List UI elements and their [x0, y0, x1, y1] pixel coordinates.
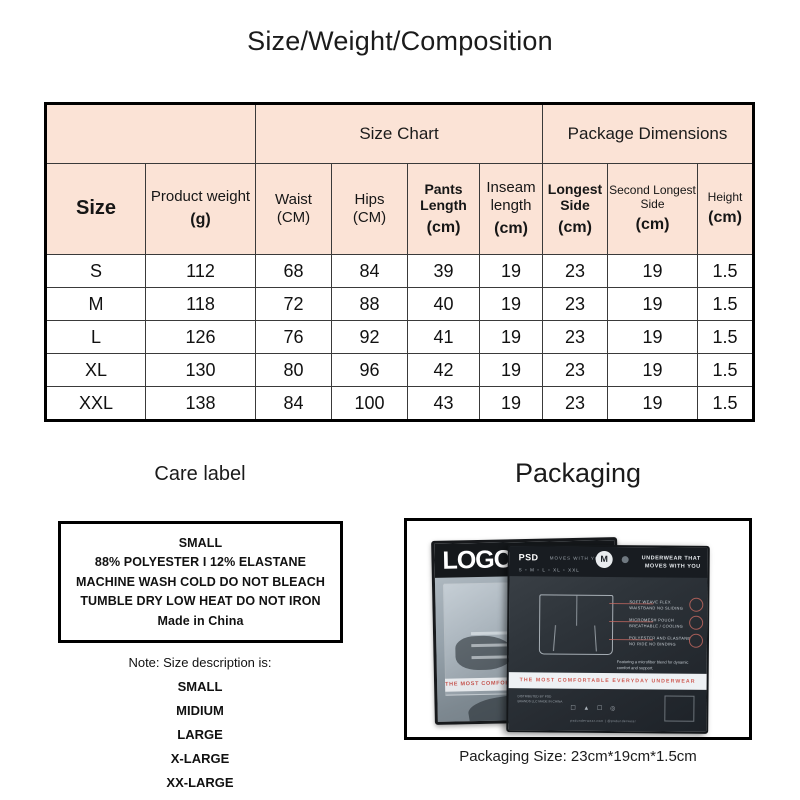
cell-second-longest-side: 19	[608, 255, 698, 288]
cell-pants-length: 40	[408, 288, 480, 321]
page-title: Size/Weight/Composition	[0, 26, 800, 57]
column-header-longest-side: Longest Side (cm)	[543, 164, 608, 255]
care-label-line: TUMBLE DRY LOW HEAT DO NOT IRON	[80, 595, 320, 608]
feature-badge-icon	[689, 634, 703, 648]
cell-longest-side: 23	[543, 354, 608, 387]
table-column-header-row: Size Product weight (g) Waist (CM) Hips …	[46, 164, 754, 255]
cell-hips: 88	[332, 288, 408, 321]
microfiber-note: Featuring a microfiber blend for dynamic…	[617, 659, 697, 672]
cell-waist: 72	[256, 288, 332, 321]
psd-brand-logo: PSD	[519, 552, 539, 562]
cell-pants-length: 39	[408, 255, 480, 288]
front-bag-url: psdunderwear.com | @psdunderwear	[570, 719, 636, 724]
cell-second-longest-side: 19	[608, 354, 698, 387]
cell-hips: 92	[332, 321, 408, 354]
cell-pants-length: 43	[408, 387, 480, 421]
size-description-note: Note: Size description is: SMALL MIDIUM …	[45, 655, 355, 799]
care-label-heading: Care label	[45, 463, 355, 486]
cell-waist: 84	[256, 387, 332, 421]
cell-height: 1.5	[698, 255, 754, 288]
table-row: XXL 138 84 100 43 19 23 19 1.5	[46, 387, 754, 421]
cell-longest-side: 23	[543, 321, 608, 354]
cell-inseam: 19	[480, 387, 543, 421]
feature-badge-icon	[689, 598, 703, 612]
front-bag-square-window	[664, 695, 694, 721]
size-badge: M	[596, 551, 613, 568]
cell-longest-side: 23	[543, 288, 608, 321]
table-row: L 126 76 92 41 19 23 19 1.5	[46, 321, 754, 354]
care-label-box: SMALL 88% POLYESTER I 12% ELASTANE MACHI…	[58, 521, 343, 643]
group-header-package-dimensions: Package Dimensions	[543, 104, 754, 164]
size-range-row: S ▫ M ▫ L ▫ XL ▫ XXL	[519, 567, 580, 573]
note-item: XX-LARGE	[45, 775, 355, 790]
cell-weight: 112	[146, 255, 256, 288]
column-header-product-weight: Product weight (g)	[146, 164, 256, 255]
feature-callout: SOFT WEAVE FLEX WAISTBAND NO SLIDING	[629, 599, 693, 612]
care-symbol-icons: ☐ ▲ ☐ ◎	[570, 705, 618, 712]
note-item: X-LARGE	[45, 751, 355, 766]
cell-weight: 130	[146, 354, 256, 387]
packaging-photo: LOGO WEAR THE MOST COMFORTABLE EVERYDAY …	[407, 521, 749, 737]
cell-hips: 84	[332, 255, 408, 288]
table-row: XL 130 80 96 42 19 23 19 1.5	[46, 354, 754, 387]
cell-height: 1.5	[698, 321, 754, 354]
column-header-hips: Hips (CM)	[332, 164, 408, 255]
cell-inseam: 19	[480, 255, 543, 288]
packaging-size-caption: Packaging Size: 23cm*19cm*1.5cm	[404, 748, 752, 765]
column-header-pants-length: Pants Length (cm)	[408, 164, 480, 255]
packaging-heading: Packaging	[404, 458, 752, 489]
group-header-size-chart: Size Chart	[256, 104, 543, 164]
feature-badge-icon	[689, 616, 703, 630]
back-bag-logo: LOGO	[442, 545, 512, 574]
front-bag-footer-text: DISTRIBUTED BY PSD BRANDS LLC MADE IN CH…	[517, 694, 563, 705]
cell-second-longest-side: 19	[608, 288, 698, 321]
cell-height: 1.5	[698, 387, 754, 421]
cell-height: 1.5	[698, 288, 754, 321]
boxer-brief-detail	[553, 625, 597, 651]
care-label-line: MACHINE WASH COLD DO NOT BLEACH	[76, 576, 325, 589]
front-bag-tagline: UNDERWEAR THAT MOVES WITH YOU	[627, 554, 701, 571]
column-header-waist: Waist (CM)	[256, 164, 332, 255]
cell-size: L	[46, 321, 146, 354]
note-item: LARGE	[45, 727, 355, 742]
cell-size: S	[46, 255, 146, 288]
cell-inseam: 19	[480, 354, 543, 387]
cell-waist: 76	[256, 321, 332, 354]
note-item: MIDIUM	[45, 703, 355, 718]
cell-inseam: 19	[480, 288, 543, 321]
cell-hips: 100	[332, 387, 408, 421]
packaging-bag-front: PSD MOVES WITH YOU M S ▫ M ▫ L ▫ XL ▫ XX…	[506, 544, 710, 734]
cell-hips: 96	[332, 354, 408, 387]
front-bag-band-text: THE MOST COMFORTABLE EVERYDAY UNDERWEAR	[509, 672, 707, 690]
care-label-line: Made in China	[157, 615, 243, 628]
size-spec-table-container: Size Chart Package Dimensions Size Produ…	[44, 102, 752, 422]
cell-size: XL	[46, 354, 146, 387]
note-title: Note: Size description is:	[45, 655, 355, 670]
care-label-line: 88% POLYESTER I 12% ELASTANE	[95, 556, 306, 569]
column-header-second-longest-side: Second Longest Side (cm)	[608, 164, 698, 255]
cell-size: M	[46, 288, 146, 321]
table-row: S 112 68 84 39 19 23 19 1.5	[46, 255, 754, 288]
feature-callout: POLYESTER AND ELASTANE NO RIDE NO BINDIN…	[629, 635, 693, 648]
cell-weight: 118	[146, 288, 256, 321]
cell-weight: 138	[146, 387, 256, 421]
care-label-line: SMALL	[179, 537, 223, 550]
column-header-size: Size	[46, 164, 146, 255]
cell-weight: 126	[146, 321, 256, 354]
cell-second-longest-side: 19	[608, 321, 698, 354]
cell-waist: 80	[256, 354, 332, 387]
cell-waist: 68	[256, 255, 332, 288]
table-row: M 118 72 88 40 19 23 19 1.5	[46, 288, 754, 321]
column-header-inseam-length: Inseam length (cm)	[480, 164, 543, 255]
feature-callout: MICROMESH POUCH BREATHABLE / COOLING	[629, 617, 693, 630]
group-header-blank	[46, 104, 256, 164]
cell-pants-length: 41	[408, 321, 480, 354]
table-group-header-row: Size Chart Package Dimensions	[46, 104, 754, 164]
garment-shape	[455, 635, 514, 670]
column-header-height: Height (cm)	[698, 164, 754, 255]
cell-longest-side: 23	[543, 255, 608, 288]
note-item: SMALL	[45, 679, 355, 694]
cell-inseam: 19	[480, 321, 543, 354]
cell-longest-side: 23	[543, 387, 608, 421]
cell-second-longest-side: 19	[608, 387, 698, 421]
cell-pants-length: 42	[408, 354, 480, 387]
cell-size: XXL	[46, 387, 146, 421]
size-spec-table: Size Chart Package Dimensions Size Produ…	[44, 102, 755, 422]
packaging-photo-frame: LOGO WEAR THE MOST COMFORTABLE EVERYDAY …	[404, 518, 752, 740]
cell-height: 1.5	[698, 354, 754, 387]
front-bag-band: THE MOST COMFORTABLE EVERYDAY UNDERWEAR	[509, 672, 707, 690]
